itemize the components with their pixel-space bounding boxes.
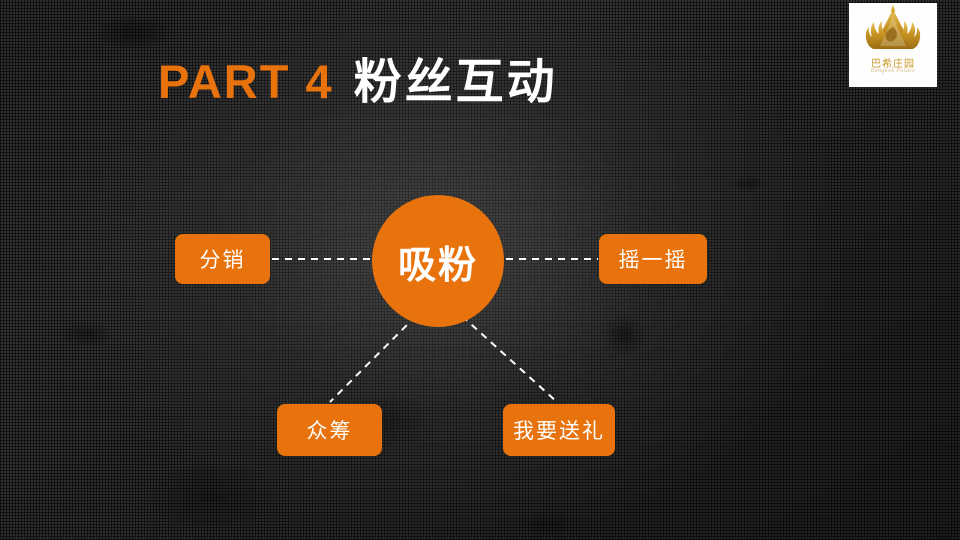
- title-chinese-label: 粉丝互动: [354, 58, 558, 106]
- diagram-node-zhongchou-label: 众筹: [307, 415, 353, 445]
- page-title: PART 4 粉丝互动: [158, 58, 558, 106]
- slide-canvas: PART 4 粉丝互动 巴希庄园 Bangkok P: [0, 0, 960, 540]
- connector-center-to-songli: [462, 316, 557, 402]
- diagram-center-node[interactable]: 吸粉: [372, 195, 504, 327]
- diagram-center-node-label: 吸粉: [398, 234, 478, 289]
- diagram-node-fenxiao-label: 分销: [200, 244, 246, 274]
- diagram-node-yaoyiyao[interactable]: 摇一摇: [599, 234, 707, 284]
- diagram-node-songli[interactable]: 我要送礼: [503, 404, 615, 456]
- title-part-label: PART 4: [158, 58, 334, 105]
- thai-temple-logo-icon: [849, 5, 937, 59]
- brand-logo: 巴希庄园 Bangkok Palace: [849, 3, 937, 87]
- diagram-node-zhongchou[interactable]: 众筹: [277, 404, 382, 456]
- diagram-node-fenxiao[interactable]: 分销: [175, 234, 270, 284]
- logo-name-sub: Bangkok Palace: [849, 68, 937, 74]
- connector-center-to-zhongchou: [330, 316, 416, 402]
- diagram-node-yaoyiyao-label: 摇一摇: [619, 244, 688, 274]
- diagram-node-songli-label: 我要送礼: [513, 415, 605, 445]
